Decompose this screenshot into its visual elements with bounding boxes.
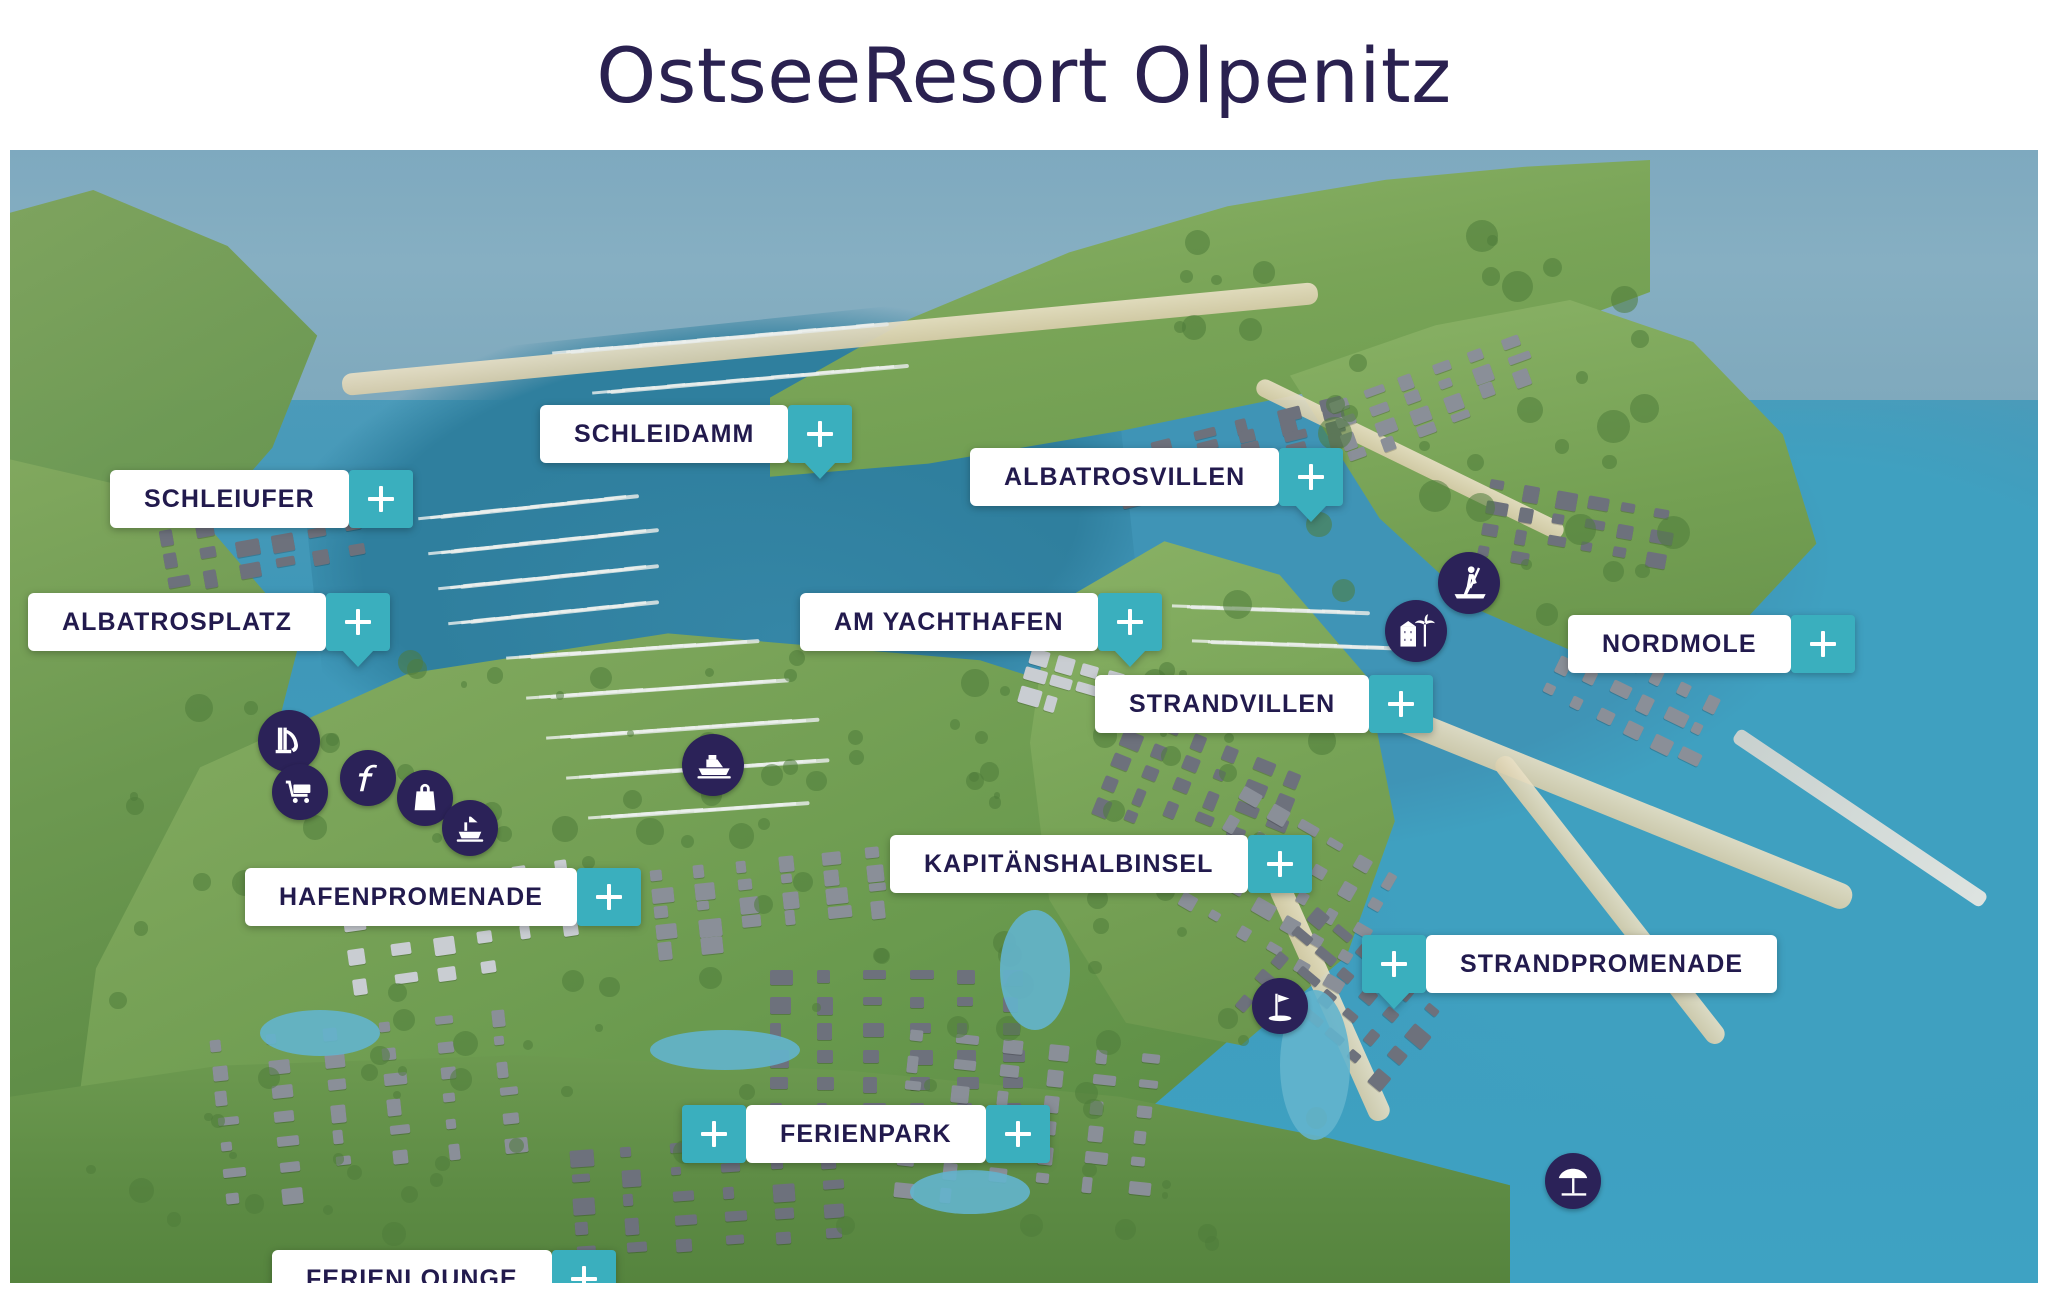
map-label-kapitaenshalbinsel[interactable]: KAPITÄNSHALBINSEL	[890, 835, 1312, 893]
f-monogram-icon-glyph	[351, 761, 385, 795]
map-label-hafenpromenade[interactable]: HAFENPROMENADE	[245, 868, 641, 926]
water-slide-icon[interactable]	[258, 710, 320, 772]
page-title: OstseeResort Olpenitz	[596, 31, 1451, 120]
plus-button-schleiufer-right[interactable]	[349, 470, 413, 528]
shopping-bag-icon-glyph	[408, 781, 442, 815]
golf-flag-icon-glyph	[1263, 989, 1297, 1023]
pointer-tip-icon	[341, 649, 375, 667]
motor-yacht-icon[interactable]	[682, 734, 744, 796]
map-label-nordmole[interactable]: NORDMOLE	[1568, 615, 1855, 673]
paddleboard-icon-glyph	[1449, 563, 1489, 603]
map-label-schleiufer[interactable]: SCHLEIUFER	[110, 470, 413, 528]
shopping-cart-icon[interactable]	[272, 764, 328, 820]
map-label-ferienlounge[interactable]: FERIENLOUNGE	[272, 1250, 616, 1283]
map-label-text-strandpromenade: STRANDPROMENADE	[1426, 935, 1777, 993]
plus-button-ferienpark-right[interactable]	[986, 1105, 1050, 1163]
plus-button-schleidamm-right[interactable]	[788, 405, 852, 463]
beach-umbrella-icon[interactable]	[1545, 1153, 1601, 1209]
paddleboard-icon[interactable]	[1438, 552, 1500, 614]
boat-dock-icon-glyph	[453, 811, 487, 845]
pointer-tip-icon	[1113, 649, 1147, 667]
map-label-text-albatrosvillen: ALBATROSVILLEN	[970, 448, 1279, 506]
map-label-text-nordmole: NORDMOLE	[1568, 615, 1791, 673]
map-label-text-ferienlounge: FERIENLOUNGE	[272, 1250, 552, 1283]
map-label-text-strandvillen: STRANDVILLEN	[1095, 675, 1369, 733]
pointer-tip-icon	[1377, 991, 1411, 1009]
map-label-ferienpark[interactable]: FERIENPARK	[682, 1105, 1050, 1163]
motor-yacht-icon-glyph	[693, 745, 733, 785]
shopping-cart-icon-glyph	[283, 775, 317, 809]
boat-dock-icon[interactable]	[442, 800, 498, 856]
plus-button-strandvillen-right[interactable]	[1369, 675, 1433, 733]
map-label-albatrosplatz[interactable]: ALBATROSPLATZ	[28, 593, 390, 651]
plus-button-ferienlounge-right[interactable]	[552, 1250, 616, 1283]
map-label-text-schleiufer: SCHLEIUFER	[110, 470, 349, 528]
beach-umbrella-icon-glyph	[1556, 1164, 1590, 1198]
building-palm-icon[interactable]	[1385, 600, 1447, 662]
plus-button-nordmole-right[interactable]	[1791, 615, 1855, 673]
map-label-text-am-yachthafen: AM YACHTHAFEN	[800, 593, 1098, 651]
page-header: OstseeResort Olpenitz	[0, 0, 2048, 150]
map-label-text-albatrosplatz: ALBATROSPLATZ	[28, 593, 326, 651]
plus-button-albatrosvillen-right[interactable]	[1279, 448, 1343, 506]
plus-button-albatrosplatz-right[interactable]	[326, 593, 390, 651]
f-monogram-icon[interactable]	[340, 750, 396, 806]
golf-flag-icon[interactable]	[1252, 978, 1308, 1034]
pointer-tip-icon	[1294, 504, 1328, 522]
water-slide-icon-glyph	[269, 721, 309, 761]
plus-button-kapitaenshalbinsel-right[interactable]	[1248, 835, 1312, 893]
map-label-strandpromenade[interactable]: STRANDPROMENADE	[1362, 935, 1777, 993]
plus-button-hafenpromenade-right[interactable]	[577, 868, 641, 926]
pointer-tip-icon	[803, 461, 837, 479]
map-label-albatrosvillen[interactable]: ALBATROSVILLEN	[970, 448, 1343, 506]
map-label-schleidamm[interactable]: SCHLEIDAMM	[540, 405, 852, 463]
map-label-text-hafenpromenade: HAFENPROMENADE	[245, 868, 577, 926]
plus-button-ferienpark-left[interactable]	[682, 1105, 746, 1163]
map-label-text-ferienpark: FERIENPARK	[746, 1105, 986, 1163]
map-label-am-yachthafen[interactable]: AM YACHTHAFEN	[800, 593, 1162, 651]
resort-map[interactable]: SCHLEIDAMMSCHLEIUFERALBATROSVILLENALBATR…	[10, 150, 2038, 1283]
map-label-strandvillen[interactable]: STRANDVILLEN	[1095, 675, 1433, 733]
map-label-text-kapitaenshalbinsel: KAPITÄNSHALBINSEL	[890, 835, 1248, 893]
map-label-text-schleidamm: SCHLEIDAMM	[540, 405, 788, 463]
page-root: OstseeResort Olpenitz	[0, 0, 2048, 1303]
building-palm-icon-glyph	[1396, 611, 1436, 651]
plus-button-strandpromenade-left[interactable]	[1362, 935, 1426, 993]
plus-button-am-yachthafen-right[interactable]	[1098, 593, 1162, 651]
